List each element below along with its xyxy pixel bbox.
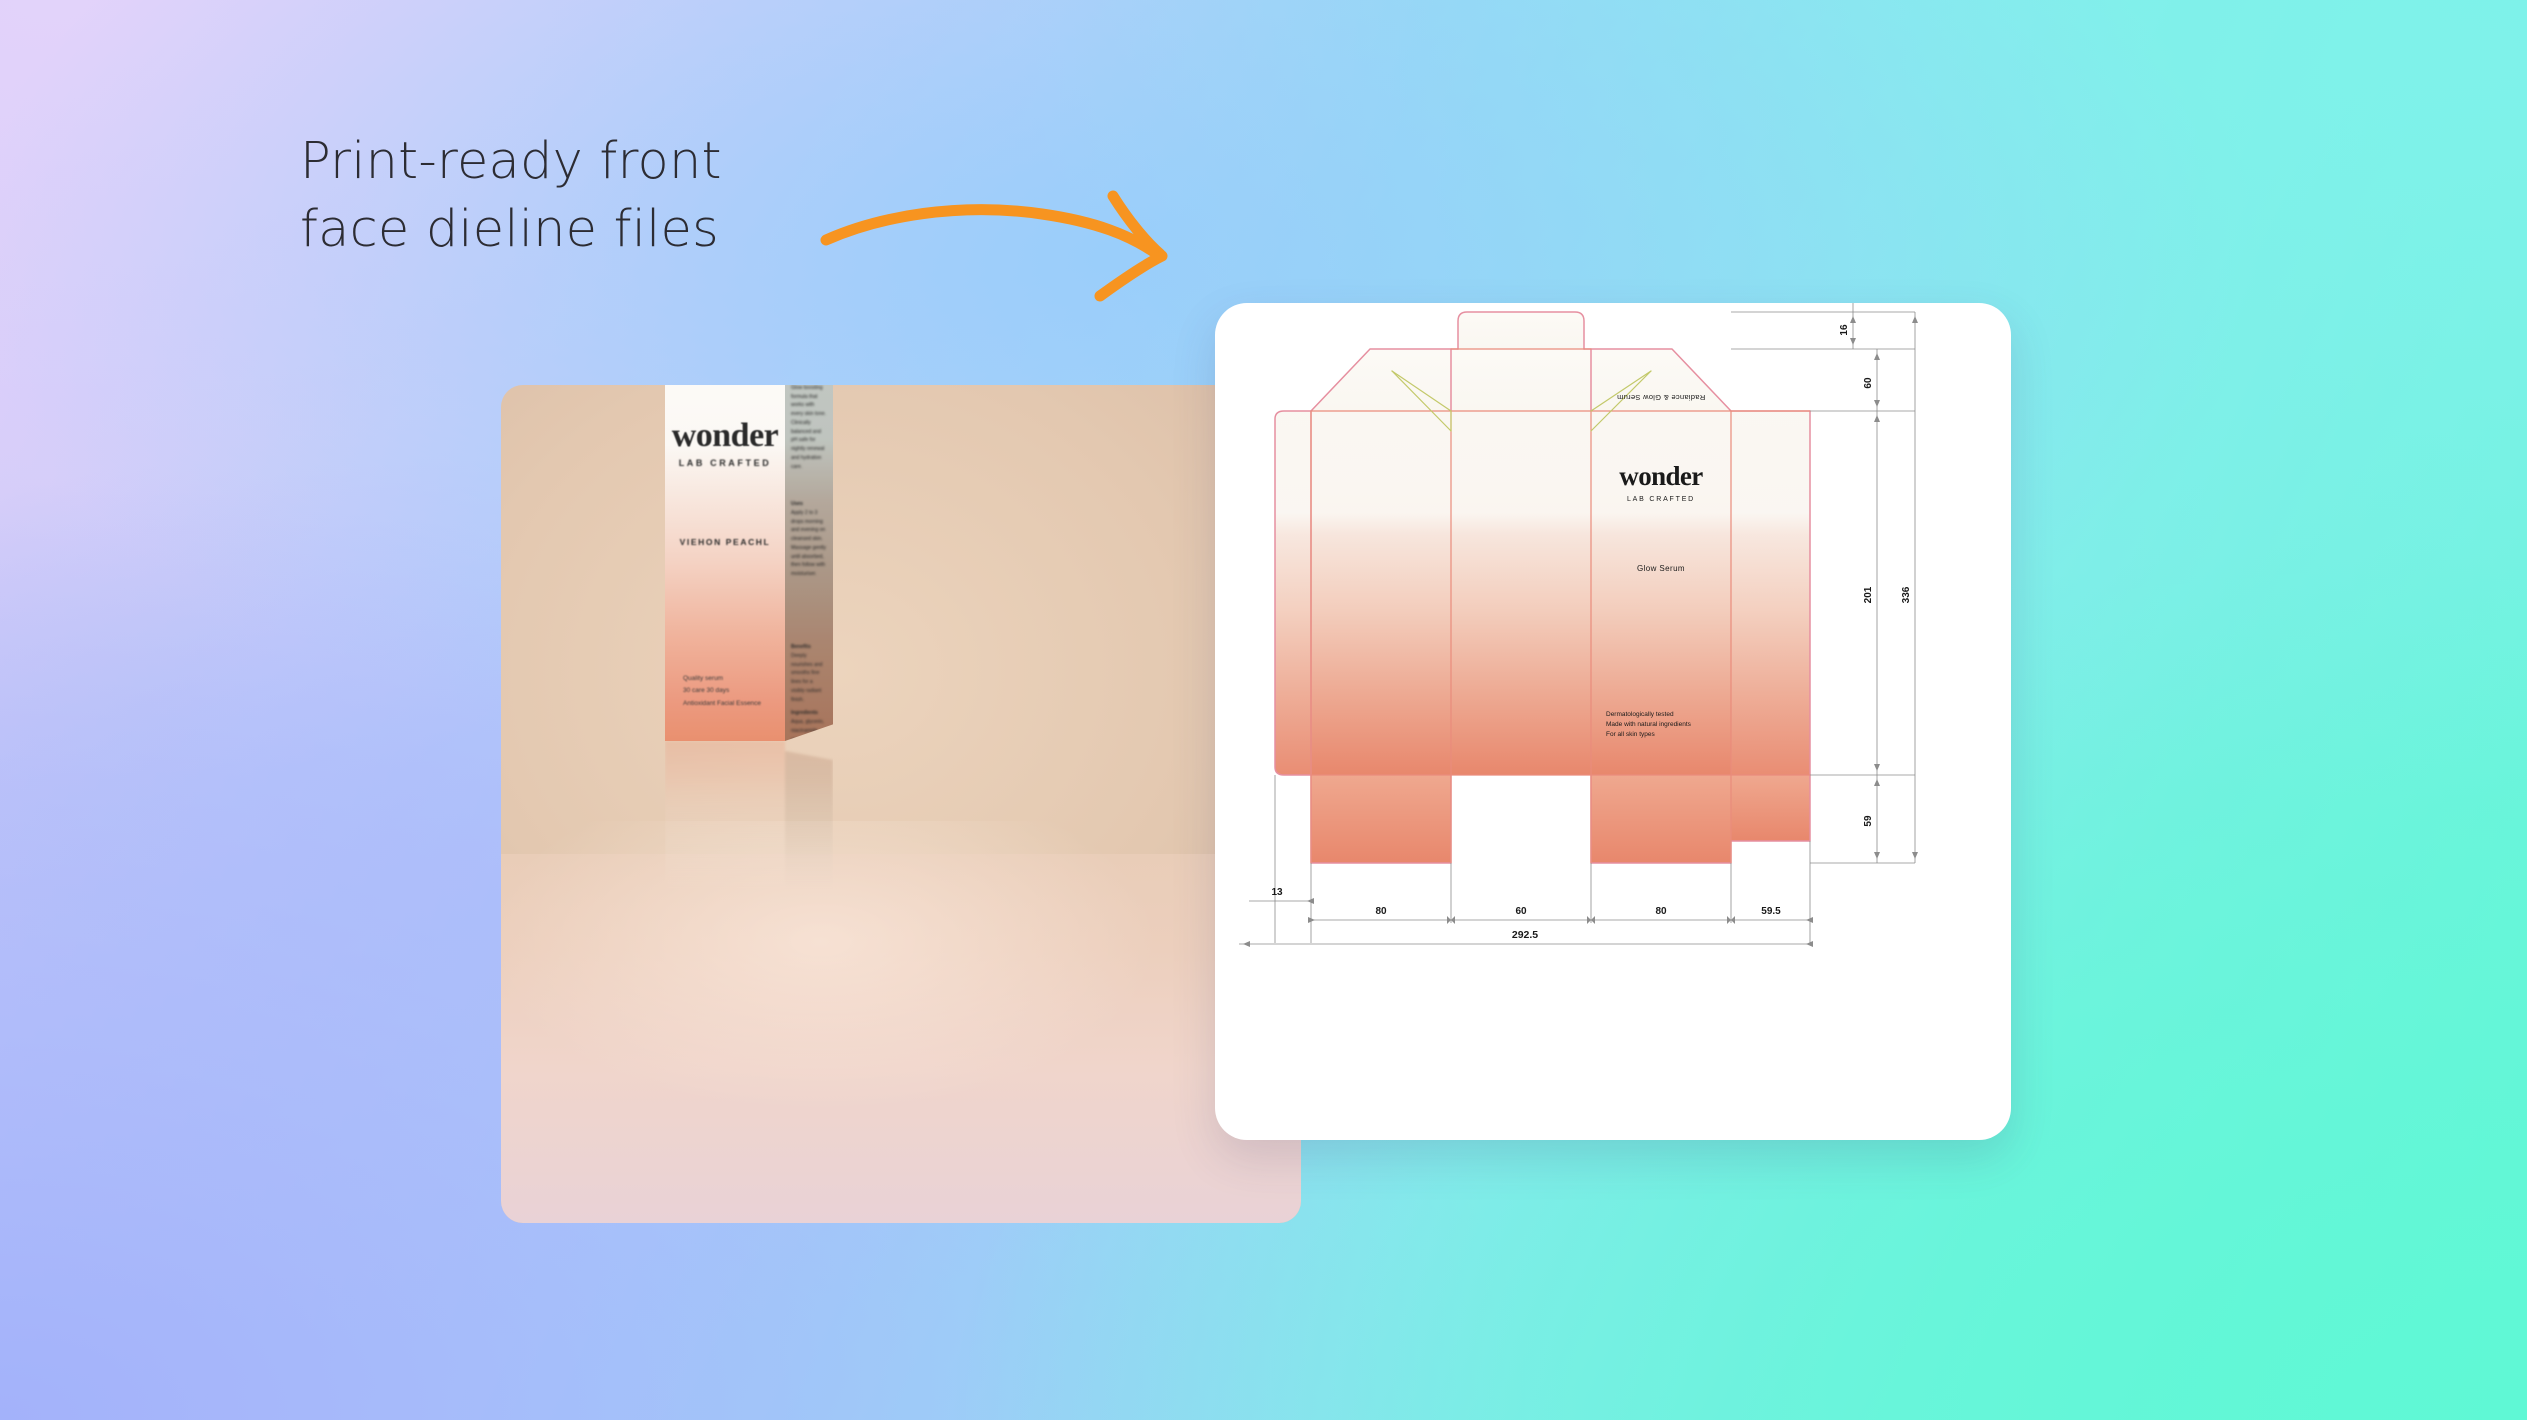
dimension-label-vertical-total: 336 (1901, 586, 1912, 603)
dieline-tagline: LAB CRAFTED (1627, 496, 1695, 503)
box-reflection (665, 741, 833, 891)
dimension-label-horizontal-80a: 80 (1375, 906, 1387, 917)
dieline-top-flap-text: Radiance & Glow Serum (1617, 393, 1705, 402)
svg-text:Made with natural ingredients: Made with natural ingredients (1606, 721, 1692, 728)
box-side-text-block-2: Uses Apply 2 to 3 drops morning and even… (791, 500, 827, 579)
box-tagline: LAB CRAFTED (665, 458, 785, 468)
product-mockup-card: wonder LAB CRAFTED VIEHON PEACHL Quality… (501, 385, 1301, 1223)
page-title: Print-ready front face dieline files (300, 128, 722, 265)
dimension-label-horizontal-80b: 80 (1655, 906, 1667, 917)
box-brand-logo: wonder (665, 417, 785, 455)
dimension-label-horizontal-13: 13 (1271, 887, 1283, 898)
dimension-label-horizontal-59_5: 59.5 (1761, 906, 1781, 917)
svg-text:For all skin types: For all skin types (1606, 731, 1656, 738)
box-variant: VIEHON PEACHL (665, 537, 785, 547)
dimension-label-vertical-16: 16 (1839, 324, 1850, 336)
dimension-label-horizontal-total: 292.5 (1512, 929, 1538, 941)
box-front-bottom-text: Quality serum 30 care 30 days Antioxidan… (683, 673, 761, 710)
dieline-brand-logo: wonder (1619, 461, 1703, 491)
box-side-face: Health Glow boosting formula that works … (785, 385, 833, 741)
dimension-label-horizontal-60: 60 (1515, 906, 1527, 917)
dimension-label-vertical-201: 201 (1863, 586, 1874, 603)
box-side-text-block-1: Health Glow boosting formula that works … (791, 385, 827, 471)
mockup-floor-glow (501, 821, 1301, 1223)
dieline-product-name: Glow Serum (1637, 564, 1685, 573)
dimension-label-vertical-60: 60 (1863, 377, 1874, 389)
curved-arrow-icon (810, 180, 1210, 320)
product-box: wonder LAB CRAFTED VIEHON PEACHL Quality… (665, 385, 833, 741)
dieline-card: wonder LAB CRAFTED Glow Serum Radiance &… (1215, 303, 2011, 1140)
box-front-face: wonder LAB CRAFTED VIEHON PEACHL Quality… (665, 385, 785, 741)
svg-text:Dermatologically tested: Dermatologically tested (1606, 711, 1674, 718)
dieline-drawing: wonder LAB CRAFTED Glow Serum Radiance &… (1215, 303, 2011, 1140)
dimension-label-vertical-59: 59 (1863, 815, 1874, 827)
